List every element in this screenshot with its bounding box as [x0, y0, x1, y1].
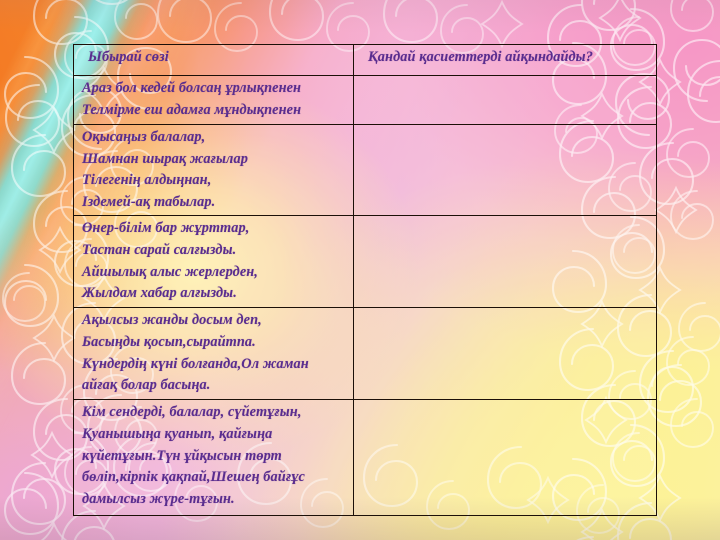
table-row: Ақылсыз жанды досым деп, Басыңды қосып,с…	[74, 308, 657, 400]
quote-text: Оқысаңыз балалар, Шамнан шырақ жағылар Т…	[82, 127, 353, 213]
table-header-row: Ыбырай сөзі Қандай қасиеттерді айқындайд…	[74, 45, 657, 76]
table-row: Өнер-білім бар жұрттар, Тастан сарай сал…	[74, 216, 657, 308]
quote-text: Кім сендерді, балалар, сүйетұғын, Қуаныш…	[82, 402, 353, 510]
slide-canvas: Ыбырай сөзі Қандай қасиеттерді айқындайд…	[0, 0, 720, 540]
column-header-quote: Ыбырай сөзі	[82, 47, 353, 69]
table-row: Араз бол кедей болсаң ұрлықпенен Телмірм…	[74, 76, 657, 125]
table-cell-quote: Өнер-білім бар жұрттар, Тастан сарай сал…	[74, 216, 354, 308]
poem-table-container: Ыбырай сөзі Қандай қасиеттерді айқындайд…	[73, 44, 639, 486]
table-cell-quote: Оқысаңыз балалар, Шамнан шырақ жағылар Т…	[74, 125, 354, 216]
table-cell-quality[interactable]	[354, 400, 657, 516]
table-row: Оқысаңыз балалар, Шамнан шырақ жағылар Т…	[74, 125, 657, 216]
poem-table: Ыбырай сөзі Қандай қасиеттерді айқындайд…	[73, 44, 657, 516]
table-cell-quote: Кім сендерді, балалар, сүйетұғын, Қуаныш…	[74, 400, 354, 516]
quote-text: Араз бол кедей болсаң ұрлықпенен Телмірм…	[82, 78, 353, 121]
table-cell-quality[interactable]	[354, 125, 657, 216]
table-row: Кім сендерді, балалар, сүйетұғын, Қуаныш…	[74, 400, 657, 516]
table-cell-quote: Араз бол кедей болсаң ұрлықпенен Телмірм…	[74, 76, 354, 125]
table-header-cell-quality: Қандай қасиеттерді айқындайды?	[354, 45, 657, 76]
column-header-quality: Қандай қасиеттерді айқындайды?	[362, 47, 656, 69]
table-cell-quality[interactable]	[354, 76, 657, 125]
table-header-cell-quote: Ыбырай сөзі	[74, 45, 354, 76]
quote-text: Өнер-білім бар жұрттар, Тастан сарай сал…	[82, 218, 353, 304]
quote-text: Ақылсыз жанды досым деп, Басыңды қосып,с…	[82, 310, 353, 396]
table-cell-quote: Ақылсыз жанды досым деп, Басыңды қосып,с…	[74, 308, 354, 400]
table-cell-quality[interactable]	[354, 308, 657, 400]
table-cell-quality[interactable]	[354, 216, 657, 308]
